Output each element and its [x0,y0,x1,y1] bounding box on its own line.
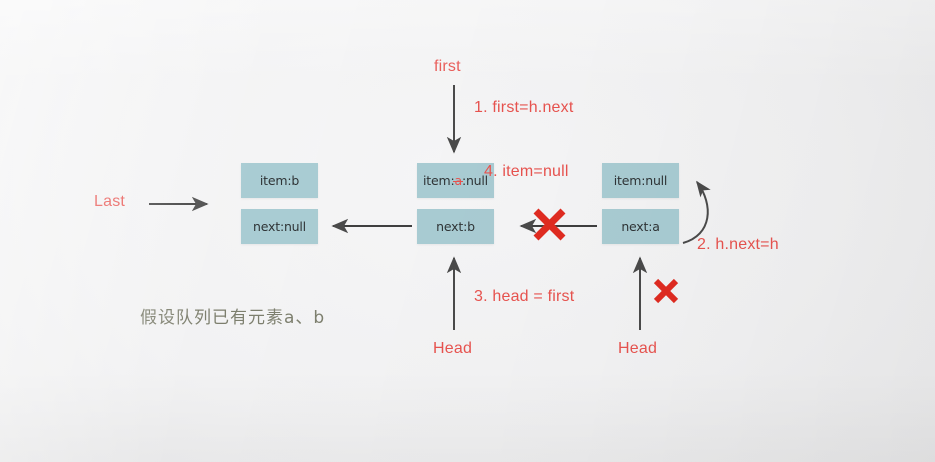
node-middle-item-box: item:a:null [417,163,494,198]
node-middle-item-struck-value: a [454,173,461,188]
node-head-next-box: next:a [602,209,679,244]
node-head-next-label: next:a [621,219,659,234]
cross-mark-head-icon [656,281,676,301]
step-3-label: 3. head = first [474,288,574,306]
step-4-label: 4. item=null [484,163,569,181]
cross-mark-link-icon [536,211,563,238]
diagram-canvas: item:b next:null item:a:null next:b item… [0,0,935,462]
self-loop-curved-arrow [683,182,708,243]
node-last-item-label: item:b [260,173,299,188]
node-last-next-label: next:null [253,219,306,234]
step-1-label: 1. first=h.next [474,99,574,117]
node-middle-item-label: item:a:null [423,173,488,188]
node-middle-item-prefix: item: [423,173,454,188]
node-head-item-box: item:null [602,163,679,198]
node-last-item-box: item:b [241,163,318,198]
pointer-label-head-right: Head [618,340,657,358]
node-head-item-label: item:null [614,173,667,188]
assumption-note: 假设队列已有元素a、b [140,303,325,328]
node-middle-next-box: next:b [417,209,494,244]
node-middle-next-label: next:b [436,219,475,234]
pointer-label-last: Last [94,193,125,211]
step-2-label: 2. h.next=h [697,236,779,254]
pointer-label-first: first [434,58,461,76]
pointer-label-head-left: Head [433,340,472,358]
node-last-next-box: next:null [241,209,318,244]
